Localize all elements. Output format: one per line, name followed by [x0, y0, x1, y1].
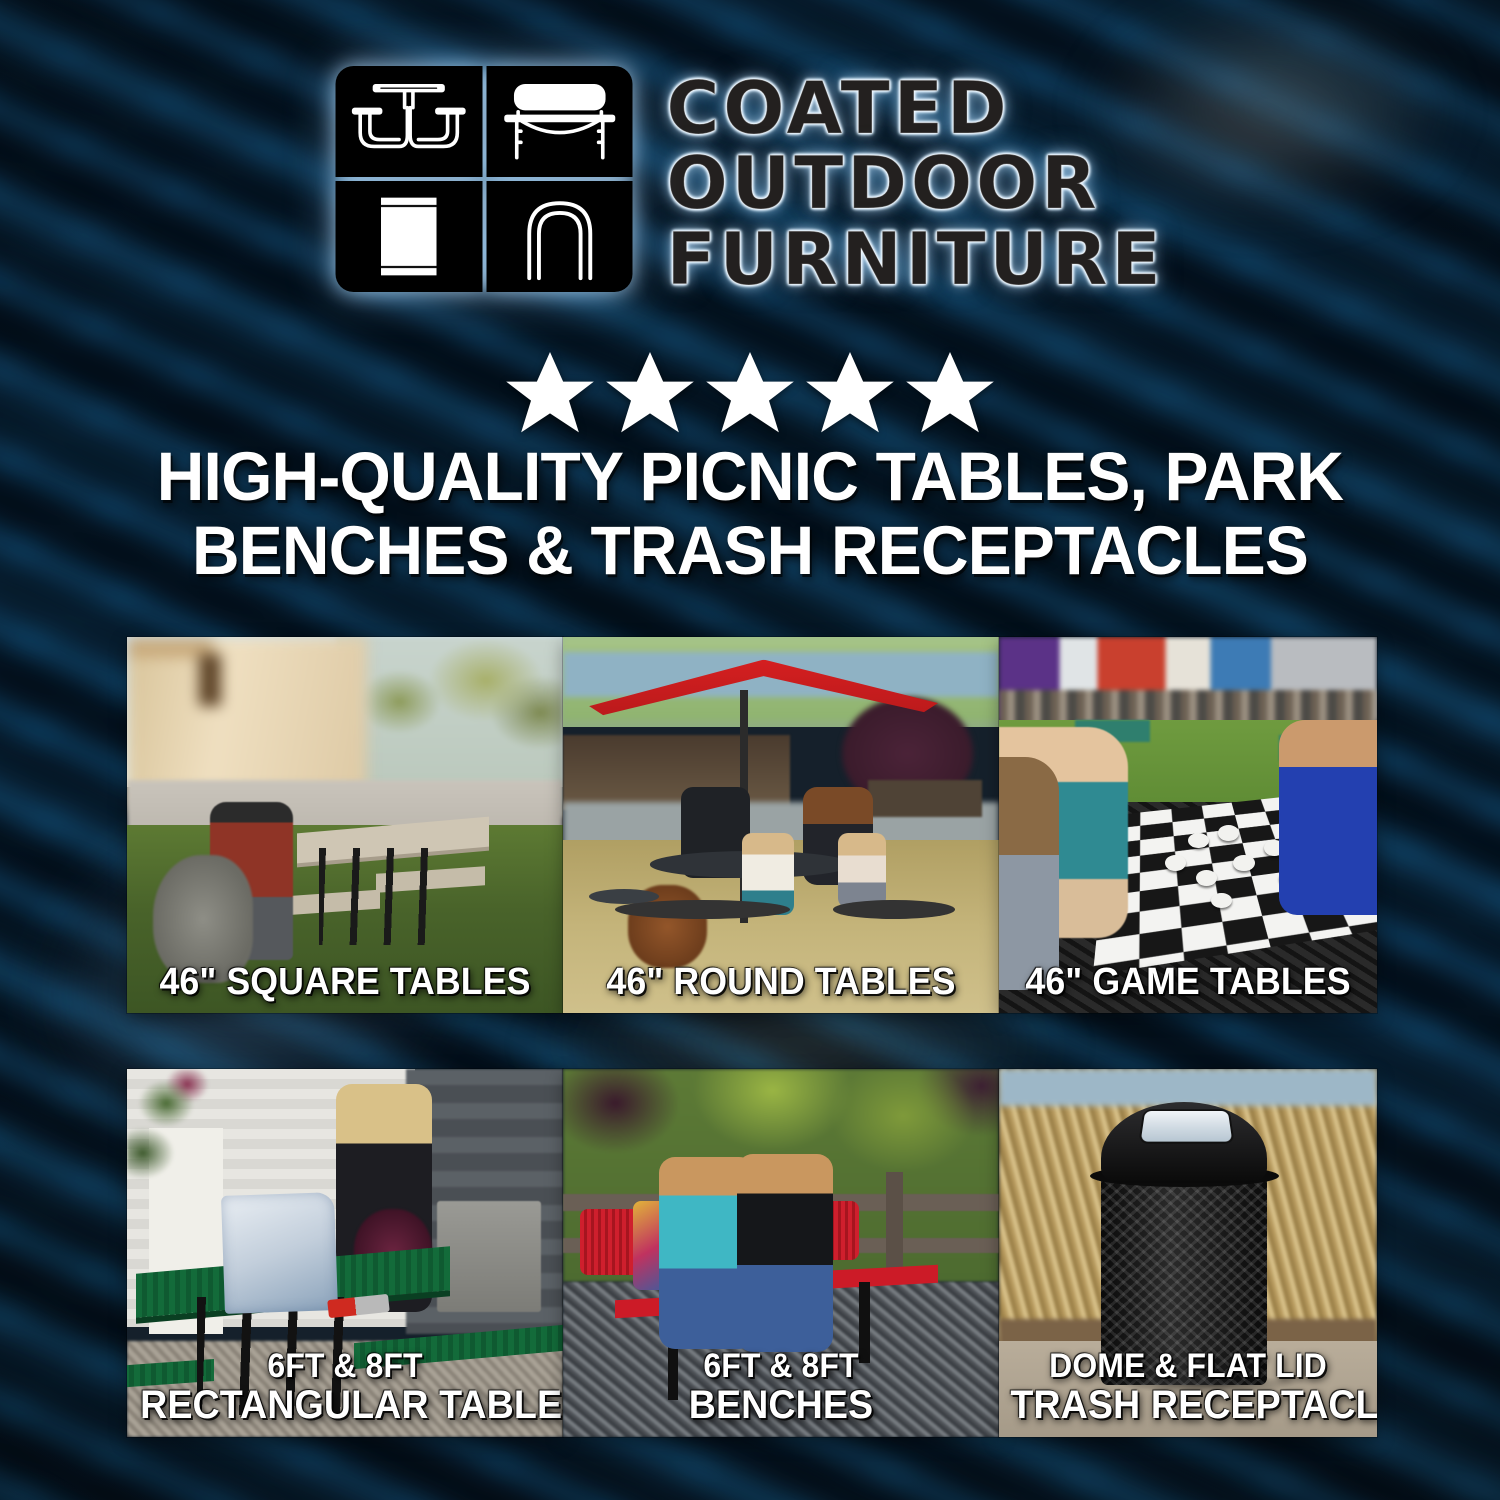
tile-caption: 46" GAME TABLES [1010, 963, 1365, 1001]
header: COATED OUTDOOR FURNITURE [0, 66, 1500, 316]
product-tile-rectangular-tables[interactable]: 6FT & 8FT RECTANGULAR TABLES [127, 1069, 563, 1437]
logo-icon-grid [336, 66, 633, 292]
star-icon [906, 352, 994, 436]
tile-caption-line-1: 46" GAME TABLES [1010, 963, 1365, 1001]
tile-caption-line-1: 46" SQUARE TABLES [140, 963, 550, 1001]
tile-caption-line-2: RECTANGULAR TABLES [140, 1385, 550, 1425]
star-rating [0, 352, 1500, 436]
marketing-poster: COATED OUTDOOR FURNITURE HIGH-QUALITY PI… [0, 0, 1500, 1500]
star-icon [706, 352, 794, 436]
product-tile-square-tables[interactable]: 46" SQUARE TABLES [127, 637, 563, 1013]
picnic-table-icon [336, 66, 483, 177]
brand-lockup: COATED OUTDOOR FURNITURE [336, 66, 1165, 296]
star-icon [606, 352, 694, 436]
bench-icon [486, 66, 633, 177]
headline-line-1: HIGH-QUALITY PICNIC TABLES, PARK [34, 440, 1467, 514]
brand-wordmark: COATED OUTDOOR FURNITURE [667, 66, 1165, 296]
tile-caption-line-2: TRASH RECEPTACLES [1010, 1385, 1365, 1425]
page-headline: HIGH-QUALITY PICNIC TABLES, PARK BENCHES… [34, 440, 1467, 588]
tile-caption-line-1: DOME & FLAT LID [1010, 1349, 1365, 1383]
product-tile-trash-receptacles[interactable]: DOME & FLAT LID TRASH RECEPTACLES [999, 1069, 1377, 1437]
wordmark-line-3: FURNITURE [667, 223, 1165, 296]
trash-receptacle-icon [336, 181, 483, 292]
wordmark-line-2: OUTDOOR [667, 147, 1165, 220]
tile-caption: 6FT & 8FT RECTANGULAR TABLES [140, 1349, 550, 1425]
star-icon [506, 352, 594, 436]
product-photo-square-tables [127, 637, 563, 1013]
tile-caption: 6FT & 8FT BENCHES [576, 1349, 986, 1425]
product-photo-game-tables [999, 637, 1377, 1013]
headline-line-2: BENCHES & TRASH RECEPTACLES [34, 514, 1467, 588]
star-icon [806, 352, 894, 436]
tile-caption-line-1: 46" ROUND TABLES [576, 963, 986, 1001]
tile-caption: 46" ROUND TABLES [576, 963, 986, 1001]
tile-caption-line-2: BENCHES [576, 1385, 986, 1425]
tile-caption-line-1: 6FT & 8FT [140, 1349, 550, 1383]
bike-rack-icon [486, 181, 633, 292]
tile-caption: 46" SQUARE TABLES [140, 963, 550, 1001]
brand-logo [336, 66, 633, 292]
product-tile-benches[interactable]: 6FT & 8FT BENCHES [563, 1069, 999, 1437]
product-photo-round-tables [563, 637, 999, 1013]
product-tile-game-tables[interactable]: 46" GAME TABLES [999, 637, 1377, 1013]
product-tile-grid: 46" SQUARE TABLES [127, 637, 1377, 1437]
product-tile-round-tables[interactable]: 46" ROUND TABLES [563, 637, 999, 1013]
tile-caption-line-1: 6FT & 8FT [576, 1349, 986, 1383]
tile-caption: DOME & FLAT LID TRASH RECEPTACLES [1010, 1349, 1365, 1425]
wordmark-line-1: COATED [667, 72, 1165, 145]
